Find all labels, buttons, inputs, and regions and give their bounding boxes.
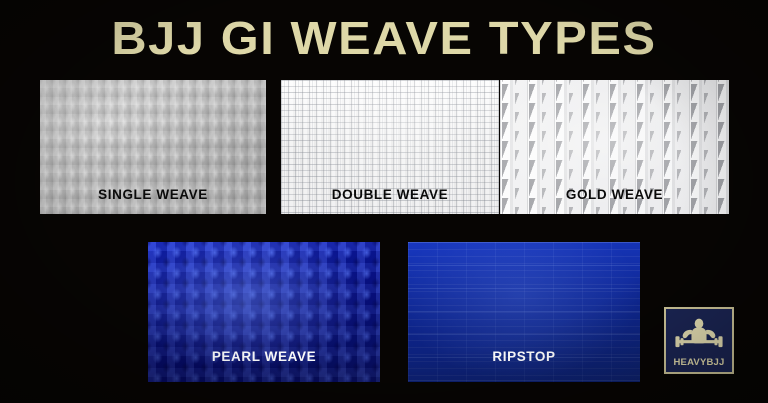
weave-label-pearl-weave: PEARL WEAVE <box>148 349 380 364</box>
brand-logo[interactable]: HEAVYBJJ <box>664 307 734 374</box>
weave-panel-gold-weave[interactable]: GOLD WEAVE <box>500 80 729 214</box>
weave-label-single-weave: SINGLE WEAVE <box>40 187 266 202</box>
weave-panel-ripstop[interactable]: RIPSTOP <box>408 242 640 382</box>
poster-canvas: BJJ GI WEAVE TYPES SINGLE WEAVE DOUBLE W… <box>0 0 768 403</box>
weave-panel-double-weave[interactable]: DOUBLE WEAVE <box>281 80 499 214</box>
bodybuilder-barbell-icon <box>666 313 732 353</box>
weave-panel-pearl-weave[interactable]: PEARL WEAVE <box>148 242 380 382</box>
weave-panel-single-weave[interactable]: SINGLE WEAVE <box>40 80 266 214</box>
weave-label-ripstop: RIPSTOP <box>408 349 640 364</box>
brand-logo-text: HEAVYBJJ <box>666 357 732 368</box>
page-title: BJJ GI WEAVE TYPES <box>0 12 768 64</box>
weave-label-double-weave: DOUBLE WEAVE <box>281 187 499 202</box>
weave-label-gold-weave: GOLD WEAVE <box>500 187 729 202</box>
